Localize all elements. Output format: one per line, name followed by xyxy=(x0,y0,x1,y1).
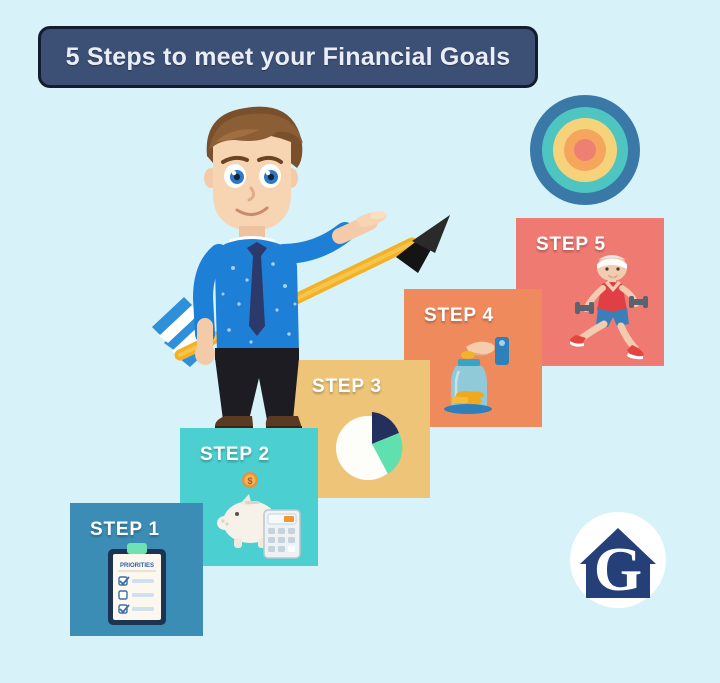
step-1-label: STEP 1 xyxy=(90,519,160,541)
title-banner: 5 Steps to meet your Financial Goals xyxy=(38,26,538,88)
step-card-1[interactable]: STEP 1 PRIORITIES xyxy=(70,503,203,636)
clipboard-caption: PRIORITIES xyxy=(120,563,154,569)
bullseye-target-icon xyxy=(529,94,641,206)
step-2-label: STEP 2 xyxy=(200,444,270,466)
house-g-logo[interactable]: G xyxy=(570,512,666,608)
page-title: 5 Steps to meet your Financial Goals xyxy=(66,43,511,72)
clipboard-priorities-icon: PRIORITIES xyxy=(104,543,174,629)
coin-dollar-symbol: $ xyxy=(247,476,252,486)
logo-letter: G xyxy=(594,536,642,604)
infographic-canvas: 5 Steps to meet your Financial Goals STE… xyxy=(0,0,720,652)
businessman-pointing-character xyxy=(185,98,390,428)
house-g-logo-icon: G xyxy=(570,512,666,608)
